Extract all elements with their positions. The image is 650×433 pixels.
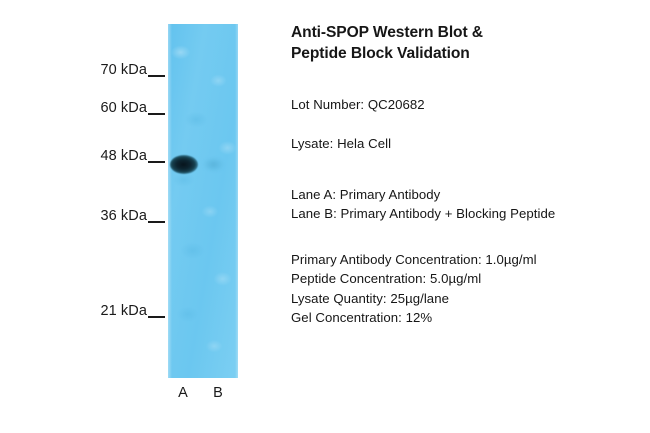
membrane-right-edge — [235, 24, 238, 378]
marker-label: 70 kDa — [100, 63, 147, 78]
marker-tick-icon — [148, 161, 165, 163]
marker-tick-icon — [148, 75, 165, 77]
gel-concentration-text: Gel Concentration: 12% — [291, 308, 643, 328]
marker-label: 60 kDa — [100, 101, 147, 116]
marker-label: 48 kDa — [100, 149, 147, 164]
marker-tick-icon — [148, 316, 165, 318]
lot-number-text: Lot Number: QC20682 — [291, 95, 643, 115]
marker-21-kda: 21 kDa — [100, 304, 165, 319]
western-blot-figure: 70 kDa 60 kDa 48 kDa 36 kDa 21 kDa A B A… — [0, 0, 650, 433]
protein-band-lane-b — [204, 158, 223, 171]
spacer — [291, 115, 643, 135]
lane-label-a: A — [176, 385, 190, 401]
figure-title-line-1: Anti-SPOP Western Blot & — [291, 22, 643, 43]
lane-legend-group: Lane A: Primary Antibody Lane B: Primary… — [291, 185, 643, 224]
lysate-text: Lysate: Hela Cell — [291, 134, 643, 154]
lane-a-legend-text: Lane A: Primary Antibody — [291, 185, 643, 205]
lysate-quantity-text: Lysate Quantity: 25µg/lane — [291, 289, 643, 309]
figure-title-line-2: Peptide Block Validation — [291, 43, 643, 64]
membrane-left-edge — [168, 24, 172, 378]
marker-tick-icon — [148, 113, 165, 115]
lane-label-b: B — [211, 385, 225, 401]
marker-48-kda: 48 kDa — [100, 149, 165, 164]
marker-label: 21 kDa — [100, 304, 147, 319]
marker-tick-icon — [148, 221, 165, 223]
marker-label: 36 kDa — [100, 209, 147, 224]
protein-band-lane-a — [170, 155, 198, 174]
protocol-group: Primary Antibody Concentration: 1.0µg/ml… — [291, 250, 643, 328]
marker-60-kda: 60 kDa — [100, 101, 165, 116]
primary-antibody-concentration-text: Primary Antibody Concentration: 1.0µg/ml — [291, 250, 643, 270]
marker-70-kda: 70 kDa — [100, 63, 165, 78]
sample-info-group: Lot Number: QC20682 Lysate: Hela Cell — [291, 95, 643, 154]
lane-b-legend-text: Lane B: Primary Antibody + Blocking Pept… — [291, 204, 643, 224]
figure-title: Anti-SPOP Western Blot & Peptide Block V… — [291, 22, 643, 64]
peptide-concentration-text: Peptide Concentration: 5.0µg/ml — [291, 269, 643, 289]
blot-membrane-strip — [168, 24, 238, 378]
marker-36-kda: 36 kDa — [100, 209, 165, 224]
info-panel: Anti-SPOP Western Blot & Peptide Block V… — [291, 22, 643, 328]
